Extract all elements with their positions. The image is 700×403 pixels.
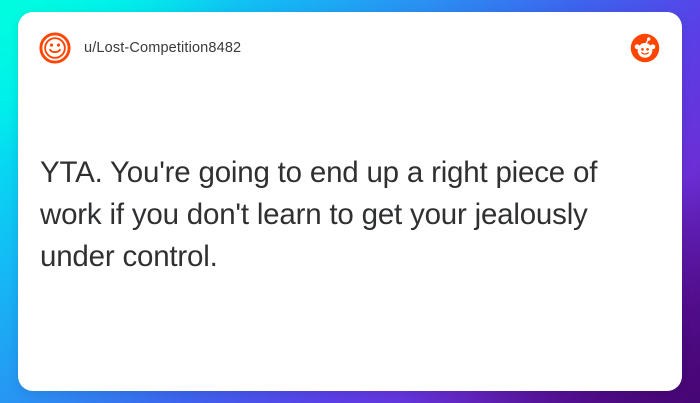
username-label: u/Lost-Competition8482 [84,40,241,56]
reddit-snoo-logo-icon[interactable] [630,33,660,63]
comment-text: YTA. You're going to end up a right piec… [40,152,654,278]
reddit-comment-card: u/Lost-Competition8482 YTA. You're going… [18,12,682,391]
comment-header: u/Lost-Competition8482 [18,12,682,84]
smiley-face-avatar-icon[interactable] [38,31,72,65]
